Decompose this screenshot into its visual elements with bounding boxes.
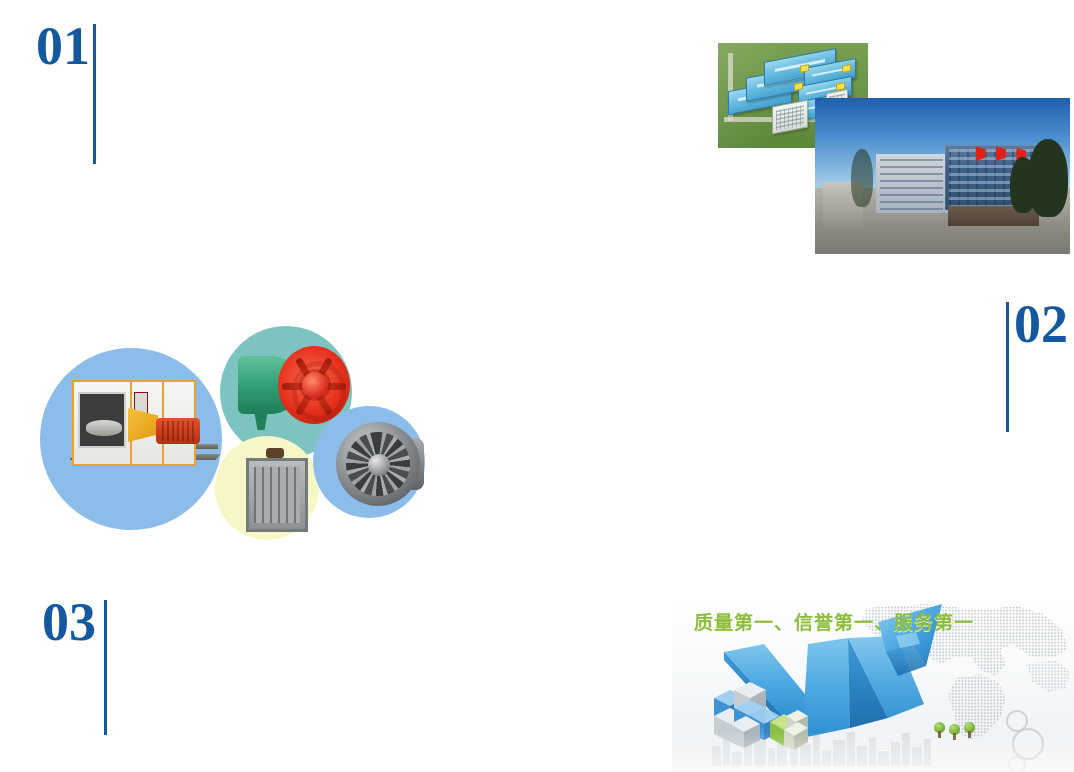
growth-banner: 质量第一、信誉第一、服务第一	[672, 596, 1074, 772]
photo-tree	[851, 149, 873, 207]
product-collage	[30, 318, 430, 558]
page-root: 01 02	[0, 0, 1074, 772]
section-number-03: 03	[42, 598, 96, 647]
section-rule-01	[93, 24, 96, 164]
cabinet-fan-inlet	[78, 392, 126, 448]
factory-office-photo	[815, 98, 1070, 254]
fire-damper	[246, 458, 308, 532]
banner-slogan: 质量第一、信誉第一、服务第一	[694, 608, 974, 635]
banner-reflection	[672, 732, 1074, 772]
mixed-flow-fan-hub	[368, 454, 390, 476]
section-number-02: 02	[1014, 300, 1068, 349]
fire-damper-actuator	[266, 448, 284, 458]
section-marker-03: 03	[42, 598, 107, 735]
section-marker-01: 01	[36, 22, 96, 164]
section-marker-02: 02	[1006, 300, 1068, 432]
section-number-01: 01	[36, 22, 90, 71]
cabinet-fan-wheel	[86, 420, 122, 436]
axial-fan-hub	[302, 372, 328, 398]
section-rule-03	[104, 600, 107, 735]
section-rule-02	[1006, 302, 1009, 432]
photo-building-left	[876, 154, 947, 213]
cabinet-fan-motor	[156, 418, 200, 444]
photo-tree	[1010, 157, 1036, 213]
